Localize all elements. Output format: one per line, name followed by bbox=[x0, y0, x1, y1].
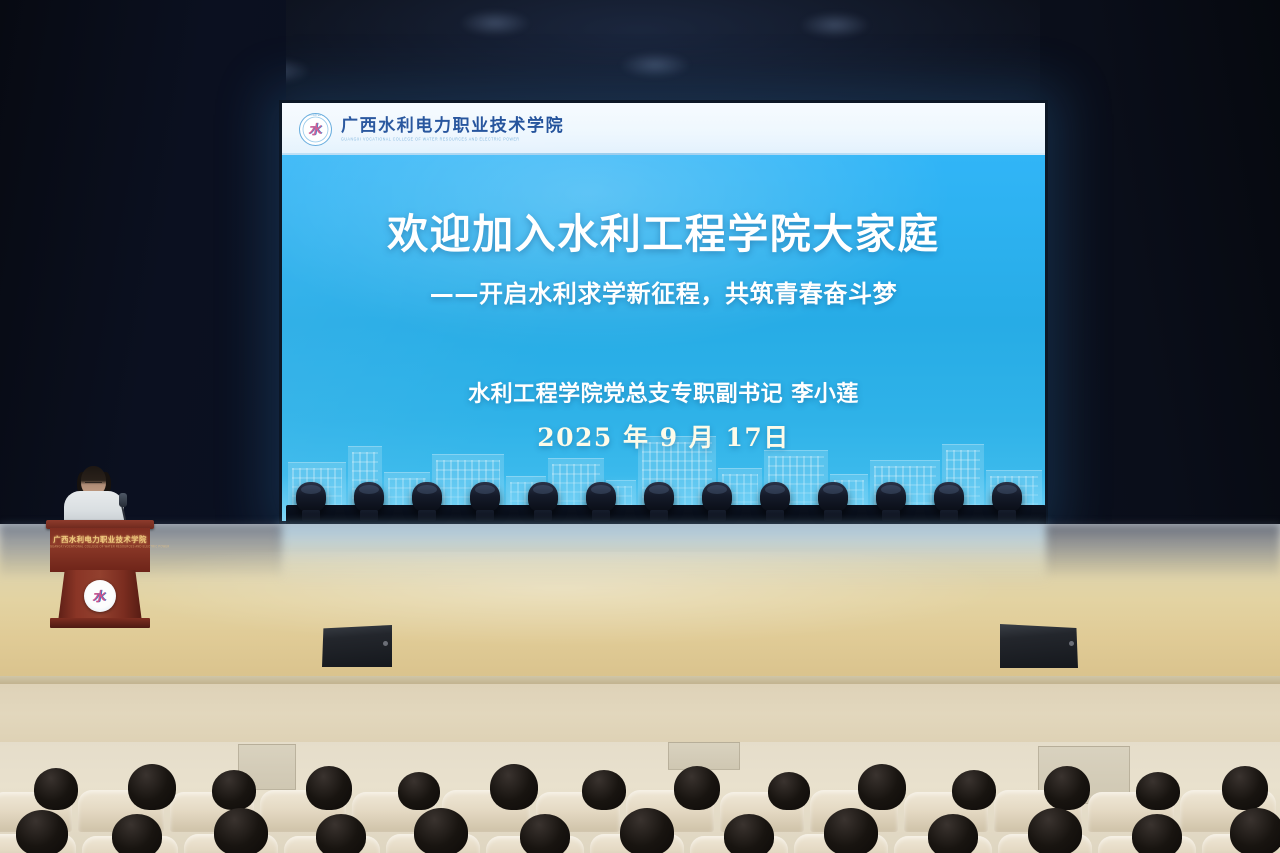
audience-head bbox=[674, 766, 720, 810]
audience-head bbox=[1132, 814, 1182, 853]
podium-front-panel: 广西水利电力职业技术学院 GUANGXI VOCATIONAL COLLEGE … bbox=[50, 528, 150, 572]
stage-par-light bbox=[876, 482, 906, 512]
podium-institution-name-cn: 广西水利电力职业技术学院 bbox=[50, 534, 150, 545]
ceiling-light-glow bbox=[800, 12, 870, 38]
emblem-glyph: 水 bbox=[92, 590, 107, 603]
audience-head bbox=[768, 772, 810, 810]
audience-head bbox=[214, 808, 268, 853]
audience-head bbox=[582, 770, 626, 810]
seal-ring-text: GUANGXI WATER RESOURCES AND ELECTRIC POW… bbox=[300, 115, 331, 117]
stage-floor bbox=[0, 524, 1280, 682]
stage-monitor-speaker bbox=[1000, 624, 1078, 668]
stage-par-light bbox=[644, 482, 674, 512]
institution-name-cn: 广西水利电力职业技术学院 bbox=[341, 117, 564, 135]
stage-wall-right bbox=[1040, 0, 1280, 560]
stage-par-light bbox=[528, 482, 558, 512]
seal-glyph: 水 bbox=[308, 123, 323, 136]
slide-presenter-line: 水利工程学院党总支专职副书记 李小莲 bbox=[468, 376, 859, 408]
brand-block: 广西水利电力职业技术学院 GUANGXI VOCATIONAL COLLEGE … bbox=[341, 117, 564, 141]
audience-head bbox=[398, 772, 440, 810]
stage-par-light bbox=[586, 482, 616, 512]
slide-subtitle: ——开启水利求学新征程，共筑青春奋斗梦 bbox=[430, 274, 897, 309]
stage-par-light bbox=[760, 482, 790, 512]
audience-head bbox=[414, 808, 468, 853]
audience-head bbox=[212, 770, 256, 810]
audience-head bbox=[112, 814, 162, 853]
stage-monitor-speaker bbox=[322, 625, 392, 667]
stage-par-light bbox=[354, 482, 384, 512]
audience-head bbox=[520, 814, 570, 853]
audience-head bbox=[1136, 772, 1180, 810]
audience-head bbox=[316, 814, 366, 853]
microphone-icon bbox=[119, 493, 127, 507]
audience-head bbox=[1044, 766, 1090, 810]
stage-par-light bbox=[934, 482, 964, 512]
slide-body: 欢迎加入水利工程学院大家庭 ——开启水利求学新征程，共筑青春奋斗梦 水利工程学院… bbox=[282, 155, 1045, 521]
projection-screen: GUANGXI WATER RESOURCES AND ELECTRIC POW… bbox=[279, 100, 1048, 524]
slide-text-stack: 欢迎加入水利工程学院大家庭 ——开启水利求学新征程，共筑青春奋斗梦 水利工程学院… bbox=[282, 155, 1045, 521]
podium-base bbox=[50, 618, 150, 628]
slide-surface: GUANGXI WATER RESOURCES AND ELECTRIC POW… bbox=[282, 103, 1045, 521]
ceiling-light-glow bbox=[620, 52, 690, 78]
school-emblem-icon: 水 bbox=[84, 580, 116, 612]
ceiling-light-glow bbox=[460, 10, 530, 36]
auditorium-scene: GUANGXI WATER RESOURCES AND ELECTRIC POW… bbox=[0, 0, 1280, 853]
audience-head bbox=[724, 814, 774, 853]
stage-par-light bbox=[296, 482, 326, 512]
slide-date: 2025 年 9 月 17日 bbox=[537, 418, 790, 454]
stage-par-light bbox=[470, 482, 500, 512]
audience-head bbox=[1222, 766, 1268, 810]
stage-par-light bbox=[412, 482, 442, 512]
slide-title: 欢迎加入水利工程学院大家庭 bbox=[387, 212, 940, 256]
university-seal-icon: GUANGXI WATER RESOURCES AND ELECTRIC POW… bbox=[299, 113, 332, 146]
stage-par-light bbox=[818, 482, 848, 512]
audience-head bbox=[858, 764, 906, 810]
audience-head bbox=[952, 770, 996, 810]
audience-head bbox=[34, 768, 78, 810]
wall-panel bbox=[668, 742, 740, 770]
institution-name-en: GUANGXI VOCATIONAL COLLEGE OF WATER RESO… bbox=[341, 137, 564, 142]
audience-head bbox=[1028, 808, 1082, 853]
audience-head bbox=[1230, 808, 1280, 853]
podium-institution-name-en: GUANGXI VOCATIONAL COLLEGE OF WATER RESO… bbox=[50, 545, 150, 549]
audience-head bbox=[16, 810, 68, 853]
audience-area bbox=[0, 742, 1280, 853]
speaker-glasses bbox=[85, 482, 102, 487]
audience-head bbox=[306, 766, 352, 810]
slide-header-band: GUANGXI WATER RESOURCES AND ELECTRIC POW… bbox=[282, 103, 1045, 155]
audience-head bbox=[490, 764, 538, 810]
audience-head bbox=[620, 808, 674, 853]
audience-head bbox=[928, 814, 978, 853]
audience-head bbox=[128, 764, 176, 810]
stage-par-light bbox=[702, 482, 732, 512]
stage-par-light bbox=[992, 482, 1022, 512]
floor-sheen bbox=[0, 552, 1280, 662]
podium-group: 广西水利电力职业技术学院 GUANGXI VOCATIONAL COLLEGE … bbox=[40, 466, 160, 626]
audience-head bbox=[824, 808, 878, 853]
